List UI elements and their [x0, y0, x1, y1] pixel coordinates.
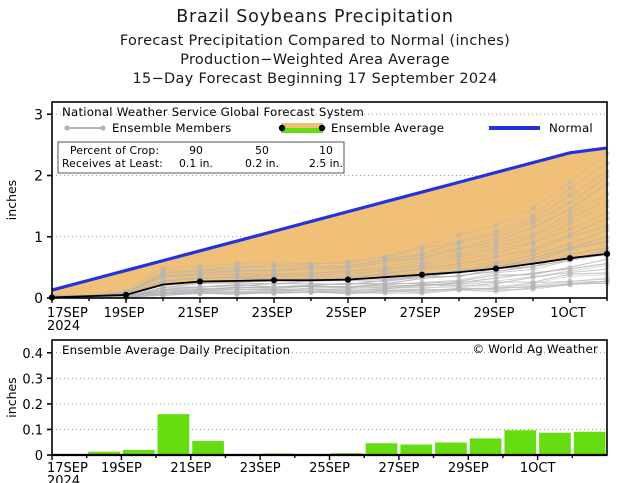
- copyright-label: © World Ag Weather: [472, 342, 598, 356]
- percent-of-crop-value: 10: [319, 144, 333, 157]
- x-tick-label: 19SEP: [101, 461, 142, 476]
- ensemble-member-marker: [456, 233, 461, 238]
- subtitle-line-2: Production−Weighted Area Average: [180, 52, 450, 68]
- y-tick-label: 0: [34, 291, 43, 307]
- ensemble-member-marker: [530, 232, 535, 237]
- x-tick-label: 25SEP: [309, 461, 350, 476]
- daily-precipitation-bar[interactable]: [470, 438, 502, 455]
- ensemble-member-marker: [567, 232, 572, 237]
- ensemble-member-marker: [456, 239, 461, 244]
- ensemble-member-marker: [530, 272, 535, 277]
- ensemble-member-marker: [530, 264, 535, 269]
- ensemble-member-marker: [197, 263, 202, 268]
- y-tick-label: 3: [34, 107, 43, 123]
- title-block: Brazil Soybeans PrecipitationForecast Pr…: [120, 7, 510, 87]
- x-tick-label: 27SEP: [378, 461, 419, 476]
- bottom-x-axis-year-label: 2024: [47, 474, 80, 483]
- y-tick-label: 0.3: [22, 372, 43, 387]
- daily-precipitation-bar[interactable]: [366, 443, 398, 455]
- ensemble-members-swatch-dot-right: [100, 125, 105, 130]
- main-y-axis-label: inches: [4, 180, 19, 220]
- ensemble-member-marker: [160, 266, 165, 271]
- legend-label-ensemble-members: Ensemble Members: [112, 121, 231, 135]
- ensemble-member-marker: [567, 193, 572, 198]
- x-tick-label: 21SEP: [178, 306, 219, 321]
- legend-source-label: National Weather Service Global Forecast…: [62, 105, 364, 119]
- daily-precipitation-bar[interactable]: [192, 441, 224, 455]
- precipitation-figure: Brazil Soybeans PrecipitationForecast Pr…: [0, 0, 630, 483]
- ensemble-member-marker: [493, 259, 498, 264]
- ensemble-member-marker: [493, 222, 498, 227]
- y-tick-label: 0.1: [22, 423, 43, 438]
- ensemble-members-swatch-dot-left: [64, 125, 69, 130]
- ensemble-member-marker: [567, 179, 572, 184]
- percent-of-crop-value: 50: [255, 144, 269, 157]
- percent-of-crop-row1-label: Percent of Crop:: [70, 144, 159, 157]
- ensemble-average-point: [123, 292, 129, 298]
- ensemble-member-marker: [530, 205, 535, 210]
- ensemble-member-marker: [567, 185, 572, 190]
- page-title: Brazil Soybeans Precipitation: [176, 7, 454, 27]
- chart-canvas: Brazil Soybeans PrecipitationForecast Pr…: [0, 0, 630, 483]
- ensemble-member-marker: [382, 254, 387, 259]
- y-tick-label: 2: [34, 169, 43, 185]
- ensemble-member-marker: [234, 261, 239, 266]
- daily-precipitation-bar[interactable]: [158, 414, 190, 455]
- ensemble-member-marker: [567, 220, 572, 225]
- receives-at-least-value: 2.5 in.: [309, 157, 343, 170]
- x-tick-label: 29SEP: [448, 461, 489, 476]
- ensemble-member-marker: [530, 225, 535, 230]
- receives-at-least-value: 0.2 in.: [245, 157, 279, 170]
- x-tick-label: 21SEP: [170, 461, 211, 476]
- ensemble-member-marker: [567, 265, 572, 270]
- x-tick-label: 1OCT: [550, 306, 586, 321]
- x-tick-label: 23SEP: [240, 461, 281, 476]
- x-tick-label: 19SEP: [104, 306, 145, 321]
- daily-precipitation-bar[interactable]: [574, 432, 606, 455]
- ensemble-member-marker: [308, 261, 313, 266]
- ensemble-member-marker: [530, 246, 535, 251]
- x-axis-year-label: 2024: [47, 319, 80, 334]
- y-tick-label: 0.2: [22, 398, 43, 413]
- x-tick-label: 23SEP: [252, 306, 293, 321]
- ensemble-member-marker: [419, 251, 424, 256]
- bottom-panel-title: Ensemble Average Daily Precipitation: [62, 343, 290, 357]
- ensemble-member-marker: [567, 200, 572, 205]
- bottom-y-axis: 00.10.20.30.4inches: [4, 347, 52, 464]
- ensemble-member-marker: [345, 260, 350, 265]
- ensemble-member-marker: [456, 274, 461, 279]
- ensemble-member-marker: [567, 227, 572, 232]
- legend-label-normal: Normal: [549, 121, 593, 135]
- ensemble-average-point: [271, 277, 277, 283]
- y-tick-label: 0: [35, 449, 43, 464]
- ensemble-average-swatch-bar: [281, 128, 323, 133]
- legend-item-ensemble-average[interactable]: Ensemble Average: [279, 121, 444, 135]
- daily-precipitation-bar[interactable]: [435, 442, 467, 455]
- cumulative-precipitation-chart: 0123inches17SEP19SEP21SEP23SEP25SEP27SEP…: [4, 102, 610, 334]
- ensemble-member-marker: [567, 279, 572, 284]
- x-tick-label: 29SEP: [474, 306, 515, 321]
- ensemble-average-point: [197, 278, 203, 284]
- daily-precipitation-chart: 00.10.20.30.4inches17SEP19SEP21SEP23SEP2…: [4, 340, 607, 483]
- percent-of-crop-row2-label: Receives at Least:: [62, 157, 163, 170]
- legend-label-ensemble-average: Ensemble Average: [331, 121, 444, 135]
- bottom-y-axis-label: inches: [4, 377, 19, 417]
- subtitle-line-3: 15−Day Forecast Beginning 17 September 2…: [133, 71, 498, 87]
- x-tick-label: 25SEP: [326, 306, 367, 321]
- ensemble-member-marker: [271, 261, 276, 266]
- ensemble-average-swatch-area: [281, 123, 323, 128]
- ensemble-member-marker: [530, 213, 535, 218]
- y-tick-label: 0.4: [22, 347, 43, 362]
- bottom-x-axis: 17SEP19SEP21SEP23SEP25SEP27SEP29SEP1OCT2…: [47, 455, 572, 483]
- ensemble-average-point: [567, 255, 573, 261]
- main-y-axis: 0123inches: [4, 107, 52, 307]
- ensemble-average-swatch-dot-left: [279, 125, 285, 131]
- ensemble-average-point: [419, 272, 425, 278]
- ensemble-member-marker: [530, 240, 535, 245]
- ensemble-average-point: [493, 266, 499, 272]
- main-x-axis: 17SEP19SEP21SEP23SEP25SEP27SEP29SEP1OCT2…: [47, 298, 607, 334]
- receives-at-least-value: 0.1 in.: [179, 157, 213, 170]
- percent-of-crop-value: 90: [189, 144, 203, 157]
- ensemble-member-marker: [456, 245, 461, 250]
- subtitle-line-1: Forecast Precipitation Compared to Norma…: [120, 33, 510, 49]
- daily-precipitation-bar[interactable]: [539, 433, 571, 455]
- daily-precipitation-bar[interactable]: [504, 430, 536, 455]
- y-tick-label: 1: [34, 230, 43, 246]
- ensemble-average-swatch-dot-right: [319, 125, 325, 131]
- x-tick-label: 1OCT: [520, 461, 556, 476]
- ensemble-member-marker: [567, 207, 572, 212]
- ensemble-average-point: [345, 277, 351, 283]
- percent-of-crop-box: Percent of Crop:Receives at Least:905010…: [58, 142, 344, 173]
- ensemble-member-marker: [493, 229, 498, 234]
- ensemble-member-marker: [567, 211, 572, 216]
- ensemble-member-marker: [567, 241, 572, 246]
- daily-precipitation-bar[interactable]: [400, 445, 432, 455]
- ensemble-member-marker: [419, 244, 424, 249]
- ensemble-member-marker: [530, 280, 535, 285]
- x-tick-label: 27SEP: [400, 306, 441, 321]
